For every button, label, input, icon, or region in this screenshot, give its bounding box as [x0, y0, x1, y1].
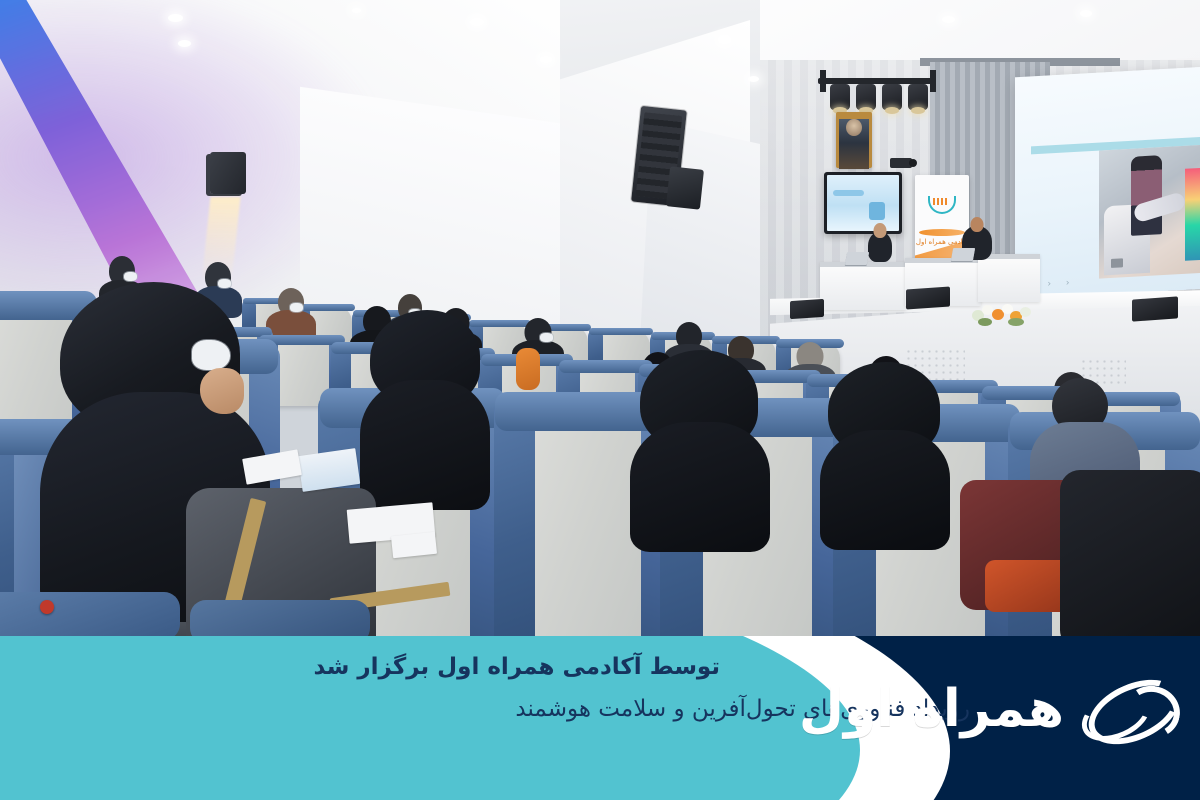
seating-area	[0, 0, 1200, 640]
caption-banner: توسط آکادمی همراه اول برگزار شد رویداد ف…	[0, 636, 1200, 800]
seat-armrest	[190, 600, 370, 640]
orange-seat-accent	[516, 348, 540, 390]
mci-wordmark: همراه اول	[799, 683, 1064, 735]
event-photo: آکادمی همراه اول ‹ › ›	[0, 0, 1200, 640]
mci-logo: همراه اول	[799, 672, 1174, 746]
audience-member-foreground	[360, 310, 490, 500]
face-mask	[540, 333, 553, 342]
banner-headline: توسط آکادمی همراه اول برگزار شد	[314, 650, 720, 685]
face-mask	[192, 340, 230, 370]
jacket-dark	[1060, 470, 1200, 640]
screenshot-root: آکادمی همراه اول ‹ › ›	[0, 0, 1200, 800]
audience-member-foreground	[820, 362, 950, 532]
mci-swoosh-icon	[1078, 672, 1174, 746]
face-mask	[290, 303, 303, 312]
hand	[200, 368, 244, 414]
seat-armrest	[0, 592, 180, 640]
audience-member-foreground	[630, 350, 770, 530]
notebook	[391, 532, 437, 558]
face-mask	[124, 272, 137, 281]
caption-text-block: توسط آکادمی همراه اول برگزار شد رویداد ف…	[314, 650, 720, 727]
audience-member	[268, 288, 314, 334]
seat-button	[40, 600, 54, 614]
